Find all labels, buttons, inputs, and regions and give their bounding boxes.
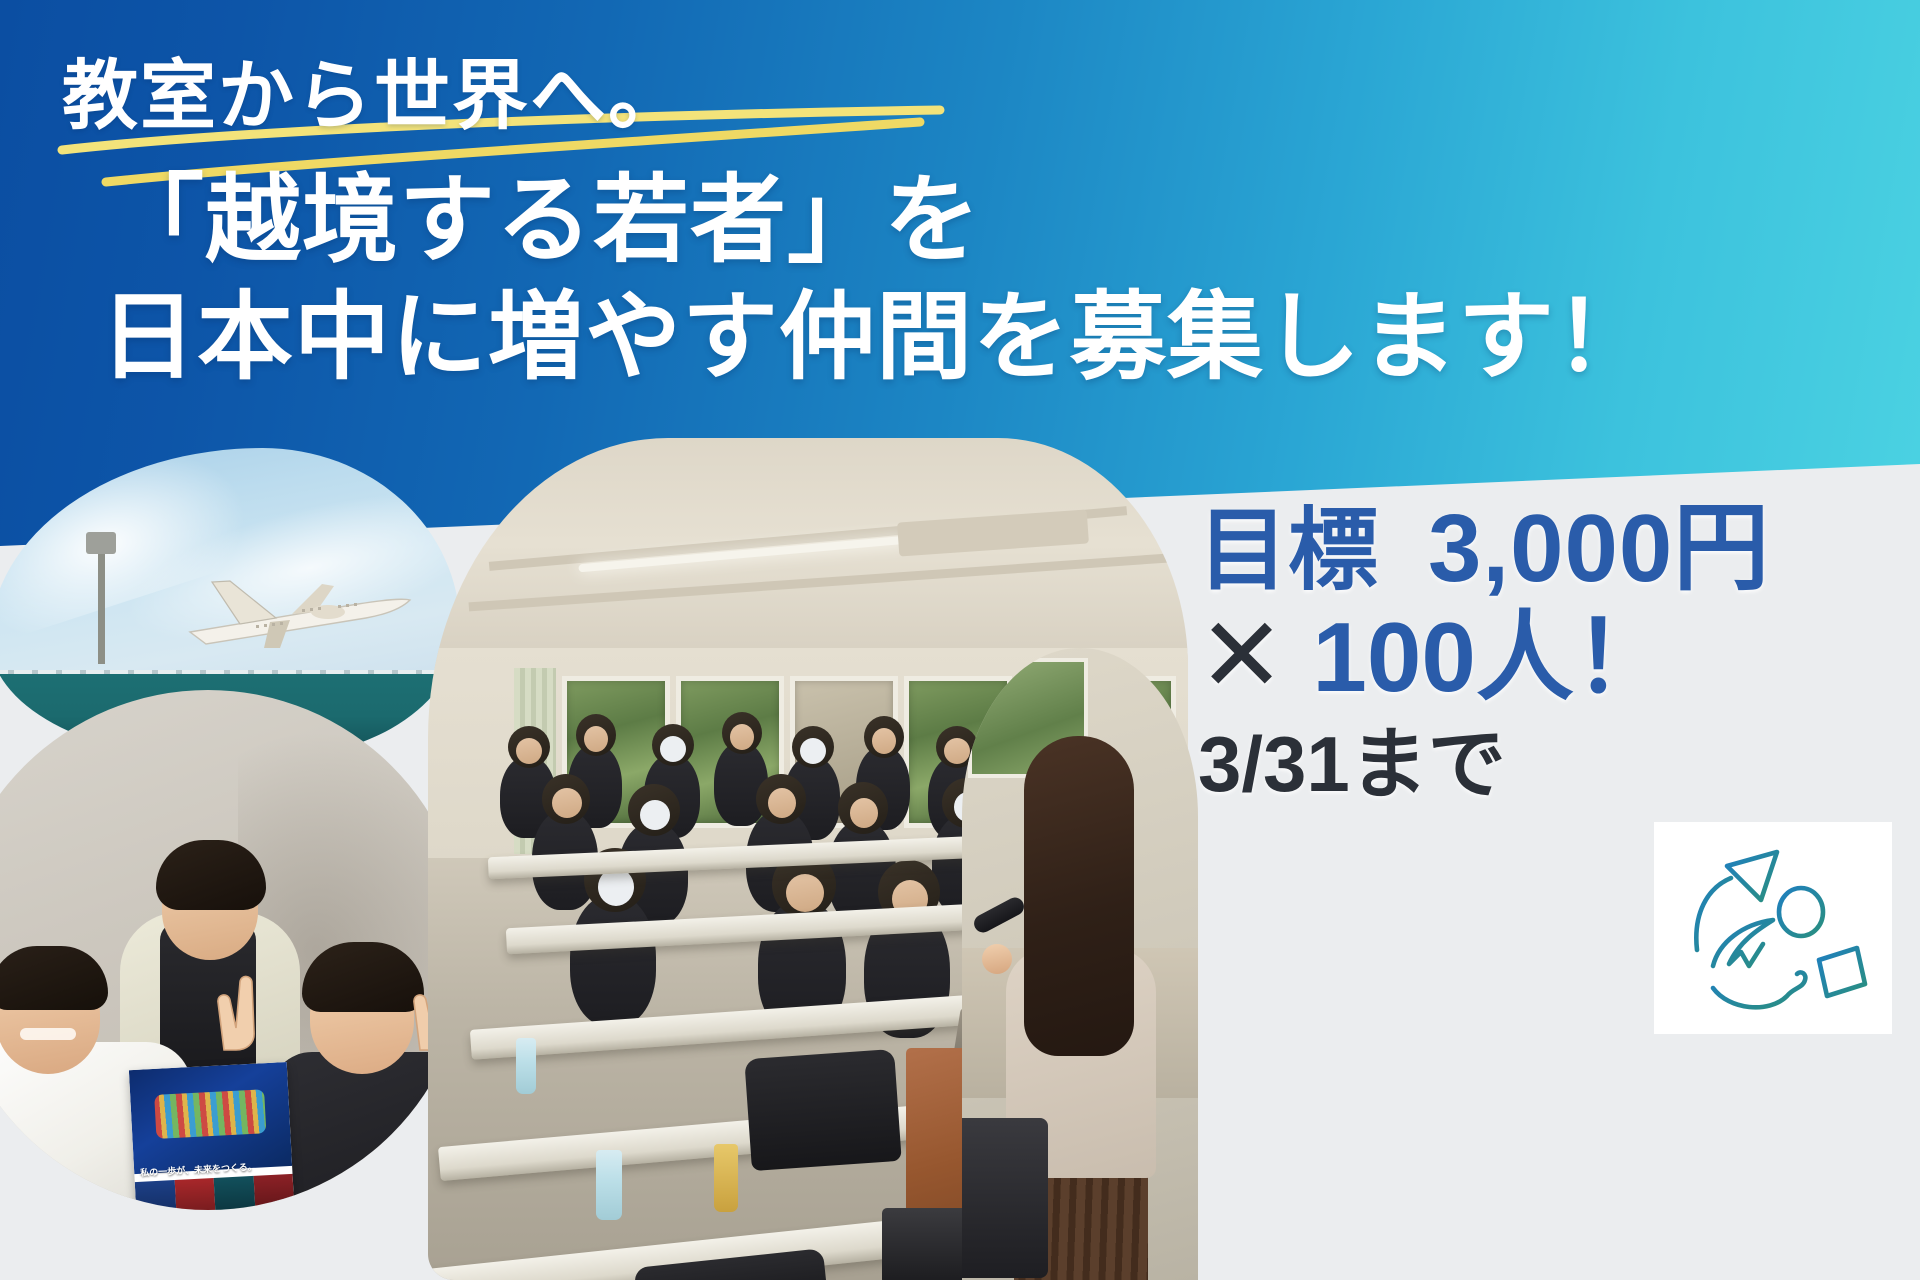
light-pole	[98, 544, 105, 664]
teacher-hair	[1024, 736, 1134, 1056]
can-drink	[714, 1144, 738, 1212]
goal-people-line: ✕ 100人！	[1198, 578, 1918, 720]
multiply-icon: ✕	[1198, 598, 1285, 714]
photo-students: 私の一歩が、未来をつくる。 トビタテ！留学JAPAN 新・日本代表プログラム	[0, 690, 468, 1210]
school-bag	[744, 1049, 901, 1171]
peace-sign-icon	[206, 968, 268, 1052]
poster-canvas: 教室から世界へ。 「越境する若者」を 日本中に増やす仲間を募集します！	[0, 0, 1920, 1280]
photo-teacher	[962, 648, 1198, 1280]
airplane-icon	[152, 578, 412, 652]
goal-people-count: 100人！	[1312, 602, 1672, 712]
banner-kicker: 教室から世界へ。	[62, 34, 686, 144]
pole-lamp	[86, 532, 116, 554]
deadline-text: 3/31まで	[1198, 702, 1918, 814]
logo-container	[1654, 822, 1892, 1034]
water-bottle	[516, 1038, 536, 1094]
student-left-smile	[20, 1028, 76, 1040]
study-abroad-flyer: 私の一歩が、未来をつくる。 トビタテ！留学JAPAN 新・日本代表プログラム	[129, 1062, 297, 1210]
banner-headline: 「越境する若者」を 日本中に増やす仲間を募集します！	[108, 162, 1652, 396]
water-bottle	[596, 1150, 622, 1220]
flyer-portrait-strip	[135, 1174, 295, 1210]
flyer-crowd	[154, 1089, 266, 1139]
headline-line-2: 日本中に増やす仲間を募集します！	[100, 279, 1652, 396]
ceiling	[428, 438, 1188, 668]
teacher-hand	[982, 944, 1012, 974]
headline-line-1: 「越境する若者」を	[108, 167, 981, 274]
flyer-hero-image	[129, 1062, 292, 1174]
av-equipment	[962, 1118, 1048, 1278]
tobitate-logo-icon	[1673, 838, 1873, 1018]
